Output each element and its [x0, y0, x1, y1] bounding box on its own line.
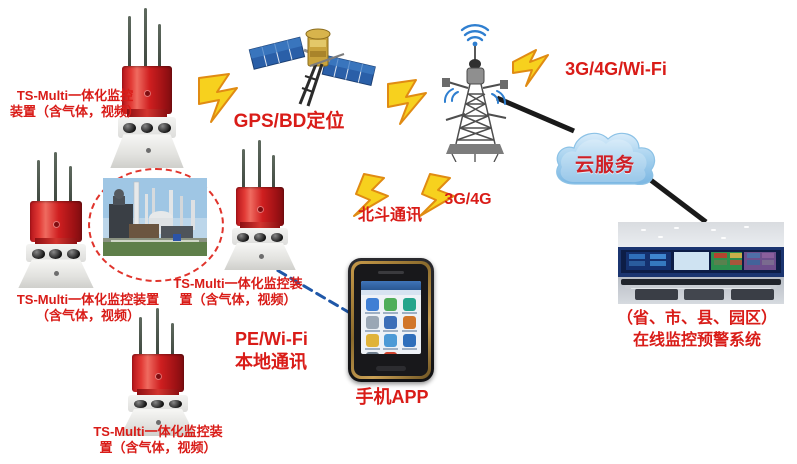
control-room-floor	[618, 277, 784, 304]
control-room-label: （省、市、县、园区） 在线监控预警系统	[602, 308, 792, 351]
device-mid-right[interactable]	[222, 140, 298, 270]
phone-app-icon[interactable]	[401, 334, 418, 350]
device-bottom[interactable]	[118, 308, 198, 436]
label-beidou: 北斗通讯	[342, 206, 438, 226]
cloud-service[interactable]: 云服务	[549, 124, 661, 192]
label-gps-bd: GPS/BD定位	[224, 110, 354, 134]
bolt-satellite-tower	[384, 78, 442, 126]
phone-app-icon[interactable]	[401, 316, 418, 332]
phone-bezel	[351, 261, 431, 379]
mobile-app-label: 手机APP	[340, 386, 444, 409]
mobile-app-device[interactable]	[348, 258, 434, 382]
diagram-canvas: 云服务 GPS/BD定位 北斗通讯 3G/4G 3G/4G/Wi-Fi PE/W…	[0, 0, 797, 464]
label-3g4g-wifi: 3G/4G/Wi-Fi	[546, 58, 686, 81]
phone-app-icon[interactable]	[364, 334, 381, 350]
control-room-videowall	[621, 250, 780, 273]
device-mid-left[interactable]	[16, 152, 96, 288]
phone-app-grid[interactable]	[361, 295, 421, 354]
phone-status-bar	[361, 281, 421, 290]
device-body	[236, 187, 285, 226]
device-body	[30, 201, 81, 242]
phone-frame	[354, 264, 428, 376]
phone-app-icon[interactable]	[364, 352, 381, 354]
phone-screen[interactable]	[361, 281, 421, 354]
device-top-left-label: TS-Multi一体化监控 装置（含气体，视频）	[2, 88, 148, 121]
phone-app-icon[interactable]	[364, 298, 381, 314]
phone-app-icon[interactable]	[401, 298, 418, 314]
phone-speaker	[378, 271, 404, 274]
phone-app-icon[interactable]	[364, 316, 381, 332]
label-3g4g: 3G/4G	[432, 190, 504, 210]
device-mid-right-label: TS-Multi一体化监控装 置（含气体，视频）	[162, 276, 314, 309]
phone-app-icon[interactable]	[383, 316, 400, 332]
satellite-icon	[248, 14, 378, 110]
cell-tower-icon	[432, 22, 518, 162]
cloud-label: 云服务	[549, 150, 661, 177]
device-body	[132, 354, 183, 392]
control-room-photo	[618, 222, 784, 304]
device-bottom-label: TS-Multi一体化监控装 置（含气体，视频）	[78, 424, 238, 457]
phone-app-icon[interactable]	[383, 334, 400, 350]
phone-app-icon[interactable]	[383, 298, 400, 314]
device-base-cone	[224, 243, 295, 270]
label-pe-wifi: PE/Wi-Fi 本地通讯	[235, 328, 345, 375]
phone-app-icon[interactable]	[383, 352, 400, 354]
device-base-cone	[110, 134, 183, 168]
device-base-cone	[18, 259, 93, 288]
industrial-plant-photo	[103, 178, 207, 256]
phone-home-button[interactable]	[376, 366, 406, 371]
